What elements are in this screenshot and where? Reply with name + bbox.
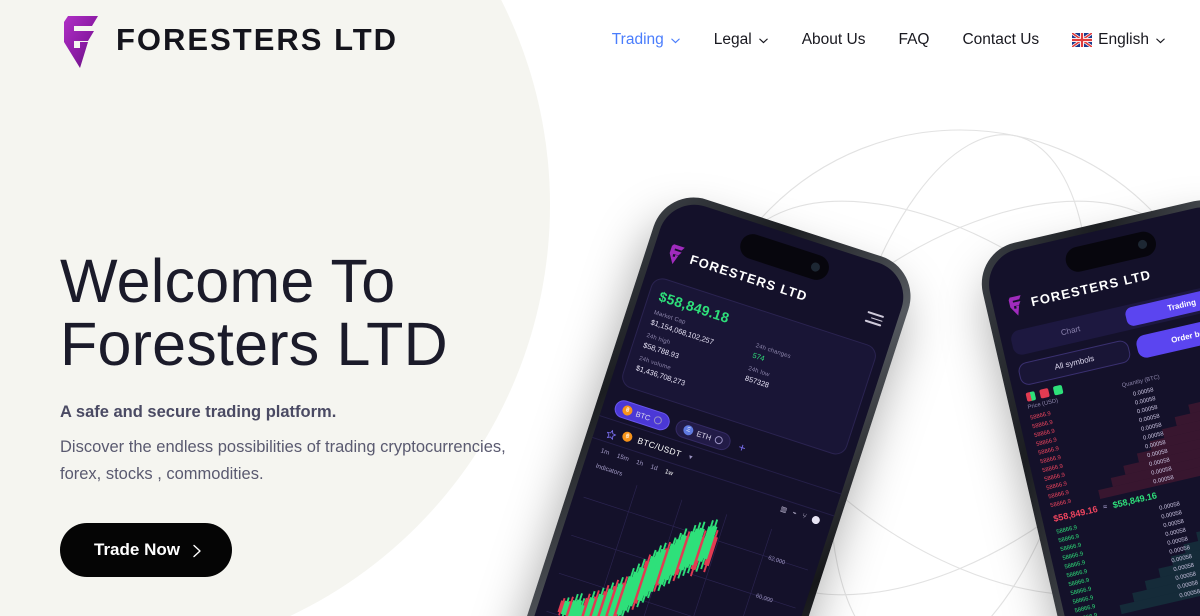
chevron-down-icon: [1155, 35, 1166, 46]
depth-asks-icon[interactable]: [1039, 388, 1050, 399]
nav-label-legal: Legal: [714, 31, 752, 49]
depth-bids-icon[interactable]: [1053, 385, 1064, 396]
nav-item-legal[interactable]: Legal: [714, 31, 769, 49]
nav-item-trading[interactable]: Trading: [612, 31, 681, 49]
nav-label-contact-us: Contact Us: [962, 31, 1039, 49]
uk-flag-icon: [1072, 33, 1092, 47]
page-title: Welcome To Foresters LTD: [60, 250, 660, 377]
phone-right-screen: FORESTERS LTD Chart Trading All symbols …: [982, 200, 1200, 616]
nav-item-contact-us[interactable]: Contact Us: [962, 31, 1039, 49]
nav-label-about-us: About Us: [802, 31, 866, 49]
chevron-right-icon: [192, 543, 202, 557]
foresters-f-logo-icon: [664, 242, 687, 267]
svg-text:60,000: 60,000: [755, 593, 774, 604]
approx-icon: ≈: [1102, 503, 1107, 511]
phone-mockup-orderbook: FORESTERS LTD Chart Trading All symbols …: [973, 192, 1200, 616]
chevron-down-icon: [670, 35, 681, 46]
foresters-f-logo-icon: [1005, 293, 1026, 317]
foresters-f-logo-icon: [58, 12, 102, 68]
trade-now-label: Trade Now: [94, 540, 180, 560]
chevron-down-icon: ▾: [688, 453, 694, 462]
hamburger-icon[interactable]: [865, 311, 884, 327]
coin-chip-eth-label: ETH: [695, 429, 712, 442]
nav-label-faq: FAQ: [898, 31, 929, 49]
settings-icon[interactable]: [811, 515, 821, 525]
landing-page: FORESTERS LTD Trading Legal About Us FAQ: [0, 0, 1200, 616]
svg-text:62,000: 62,000: [767, 555, 786, 566]
nav-item-faq[interactable]: FAQ: [898, 31, 929, 49]
brand-name: FORESTERS LTD: [116, 22, 398, 58]
draw-icon[interactable]: ⌁: [791, 509, 797, 518]
site-header: FORESTERS LTD Trading Legal About Us FAQ: [0, 0, 1200, 80]
eth-icon: Ξ: [682, 424, 695, 437]
nav-item-about-us[interactable]: About Us: [802, 31, 866, 49]
brand-logo[interactable]: FORESTERS LTD: [58, 12, 398, 68]
compare-icon[interactable]: ⑂: [801, 512, 807, 520]
language-selector[interactable]: English: [1072, 31, 1166, 49]
language-label: English: [1098, 31, 1149, 49]
chevron-down-icon: [758, 35, 769, 46]
nav-label-trading: Trading: [612, 31, 664, 49]
timeframe-1w[interactable]: 1w: [664, 468, 674, 477]
phone-mockups: FORESTERS LTD $58,849.18 Market Cap $1,1…: [640, 0, 1200, 616]
depth-both-icon[interactable]: [1025, 391, 1036, 402]
hero-subtitle: A safe and secure trading platform.: [60, 403, 660, 422]
main-nav: Trading Legal About Us FAQ Contact Us: [612, 31, 1166, 49]
close-icon[interactable]: [714, 435, 724, 445]
hero-body-text: Discover the endless possibilities of tr…: [60, 434, 530, 487]
hero-section: Welcome To Foresters LTD A safe and secu…: [60, 250, 660, 577]
trade-now-button[interactable]: Trade Now: [60, 523, 232, 577]
candlestick-type-icon[interactable]: ▥: [779, 505, 788, 515]
plus-icon[interactable]: +: [737, 440, 748, 455]
